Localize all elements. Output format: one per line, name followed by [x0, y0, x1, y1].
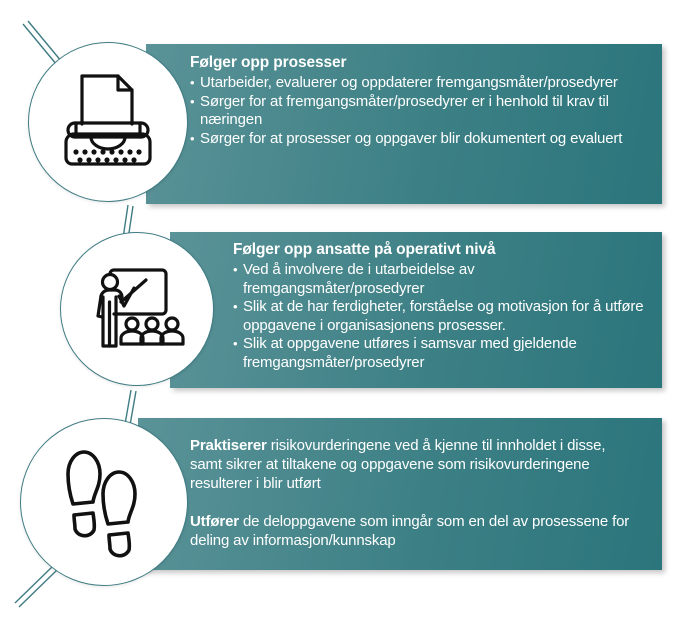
paragraph-2-lead: Utfører — [190, 513, 239, 530]
list-item: Utarbeider, evaluerer og oppdaterer frem… — [190, 74, 650, 93]
list-item: Sørger for at prosesser og oppgaver blir… — [190, 130, 650, 149]
training-presentation-icon — [88, 258, 188, 358]
panel-1-bullets: Utarbeider, evaluerer og oppdaterer frem… — [190, 74, 650, 148]
footprints-icon — [50, 444, 156, 558]
panel-2-title: Følger opp ansatte på operativt nivå — [233, 240, 653, 259]
process-panel-3: Praktiserer risikovurderingene ved å kje… — [138, 418, 662, 570]
typewriter-keys — [73, 149, 141, 162]
panel-2-content: Følger opp ansatte på operativt nivå Ved… — [233, 240, 653, 372]
list-item: Ved å involvere de i utarbeidelse av fre… — [233, 261, 653, 298]
panel-1-title: Følger opp prosesser — [190, 53, 650, 72]
diagram-canvas: Følger opp prosesser Utarbeider, evaluer… — [0, 0, 684, 619]
process-panel-2: Følger opp ansatte på operativt nivå Ved… — [170, 232, 662, 388]
typewriter-icon — [60, 68, 156, 168]
panel-2-bullets: Ved å involvere de i utarbeidelse av fre… — [233, 261, 653, 372]
list-item: Slik at oppgavene utføres i samsvar med … — [233, 335, 653, 372]
list-item: Slik at de har ferdigheter, forståelse o… — [233, 298, 653, 335]
paragraph-2-rest: de deloppgavene som inngår som en del av… — [190, 513, 629, 549]
panel-1-content: Følger opp prosesser Utarbeider, evaluer… — [190, 53, 650, 148]
panel-3-paragraph-1: Praktiserer risikovurderingene ved å kje… — [190, 436, 630, 493]
panel-3-paragraph-2: Utfører de deloppgavene som inngår som e… — [190, 512, 630, 550]
panel-3-content: Praktiserer risikovurderingene ved å kje… — [190, 436, 630, 550]
connector-bottom — [15, 566, 53, 603]
paragraph-1-lead: Praktiserer — [190, 437, 267, 454]
list-item: Sørger for at fremgangsmåter/prosedyrer … — [190, 93, 650, 130]
